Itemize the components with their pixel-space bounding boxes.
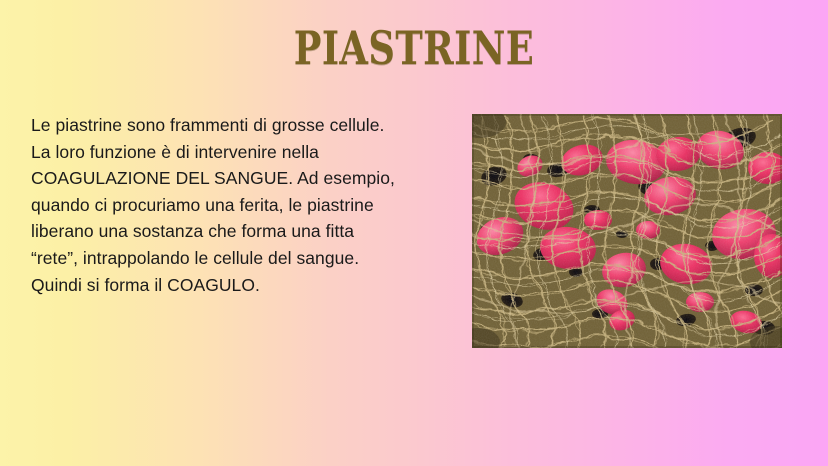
body-line: Quindi si forma il COAGULO. [31, 272, 451, 299]
body-line: “rete”, intrappolando le cellule del san… [31, 245, 451, 272]
slide-canvas: PIASTRINE Le piastrine sono frammenti di… [0, 0, 828, 466]
body-text-block: Le piastrine sono frammenti di grosse ce… [31, 112, 451, 298]
body-line: La loro funzione è di intervenire nella [31, 139, 451, 166]
body-line: quando ci procuriamo una ferita, le pias… [31, 192, 451, 219]
body-line: COAGULAZIONE DEL SANGUE. Ad esempio, [31, 165, 451, 192]
page-title: PIASTRINE [83, 24, 745, 72]
blood-clot-micrograph [472, 114, 782, 348]
body-line: liberano una sostanza che forma una fitt… [31, 218, 451, 245]
body-line: Le piastrine sono frammenti di grosse ce… [31, 112, 451, 139]
